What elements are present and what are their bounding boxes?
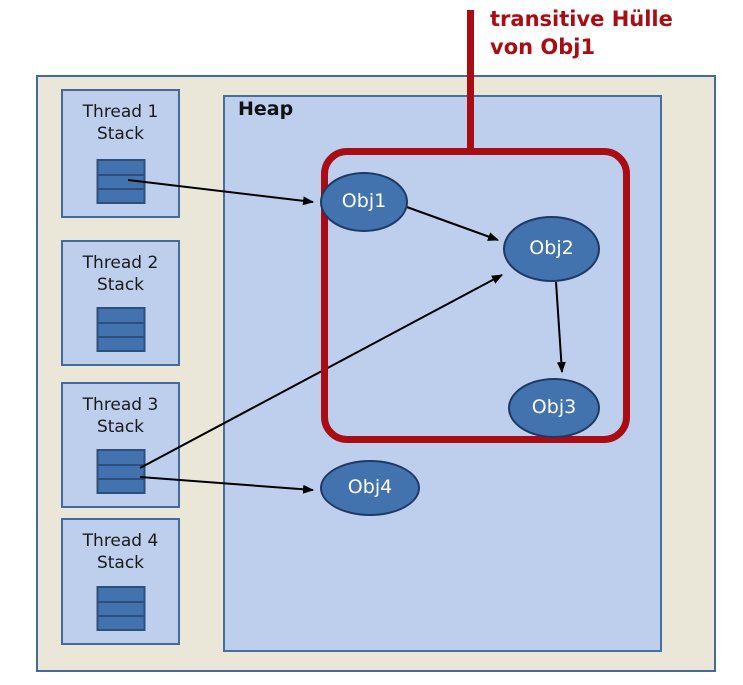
transitive-hull-leader-line	[467, 10, 474, 152]
stack-frames-icon-1	[96, 159, 145, 204]
heap-object-obj3: Obj3	[508, 378, 600, 438]
thread-stack-title-1: Thread 1	[63, 101, 178, 123]
heap-object-label-obj2: Obj2	[529, 237, 573, 259]
thread-stack-subtitle-1: Stack	[63, 123, 178, 145]
thread-stack-subtitle-3: Stack	[63, 416, 178, 438]
heap-object-obj2: Obj2	[503, 216, 600, 282]
diagram-canvas: Heap Thread 1 Stack Thread 2 Stack Threa…	[0, 0, 743, 685]
thread-stack-box-4: Thread 4 Stack	[61, 518, 180, 645]
thread-stack-label-2: Thread 2 Stack	[63, 252, 178, 297]
thread-stack-title-3: Thread 3	[63, 394, 178, 416]
heap-object-label-obj4: Obj4	[348, 476, 392, 498]
heap-label: Heap	[238, 98, 293, 120]
stack-frames-icon-3	[96, 449, 145, 494]
thread-stack-subtitle-2: Stack	[63, 274, 178, 296]
transitive-hull-caption-line2: von Obj1	[490, 34, 730, 62]
heap-object-label-obj1: Obj1	[342, 190, 386, 212]
thread-stack-subtitle-4: Stack	[63, 552, 178, 574]
thread-stack-title-2: Thread 2	[63, 252, 178, 274]
thread-stack-label-1: Thread 1 Stack	[63, 101, 178, 146]
transitive-hull-caption: transitive Hülle von Obj1	[490, 6, 730, 62]
thread-stack-label-3: Thread 3 Stack	[63, 394, 178, 439]
thread-stack-box-3: Thread 3 Stack	[61, 382, 180, 508]
stack-frames-icon-4	[96, 586, 145, 631]
thread-stack-box-1: Thread 1 Stack	[61, 89, 180, 218]
thread-stack-box-2: Thread 2 Stack	[61, 240, 180, 366]
heap-object-obj4: Obj4	[320, 460, 420, 516]
transitive-hull-caption-line1: transitive Hülle	[490, 6, 730, 34]
thread-stack-label-4: Thread 4 Stack	[63, 530, 178, 575]
thread-stack-title-4: Thread 4	[63, 530, 178, 552]
stack-frames-icon-2	[96, 307, 145, 352]
heap-object-label-obj3: Obj3	[532, 396, 576, 418]
heap-object-obj1: Obj1	[320, 172, 408, 232]
